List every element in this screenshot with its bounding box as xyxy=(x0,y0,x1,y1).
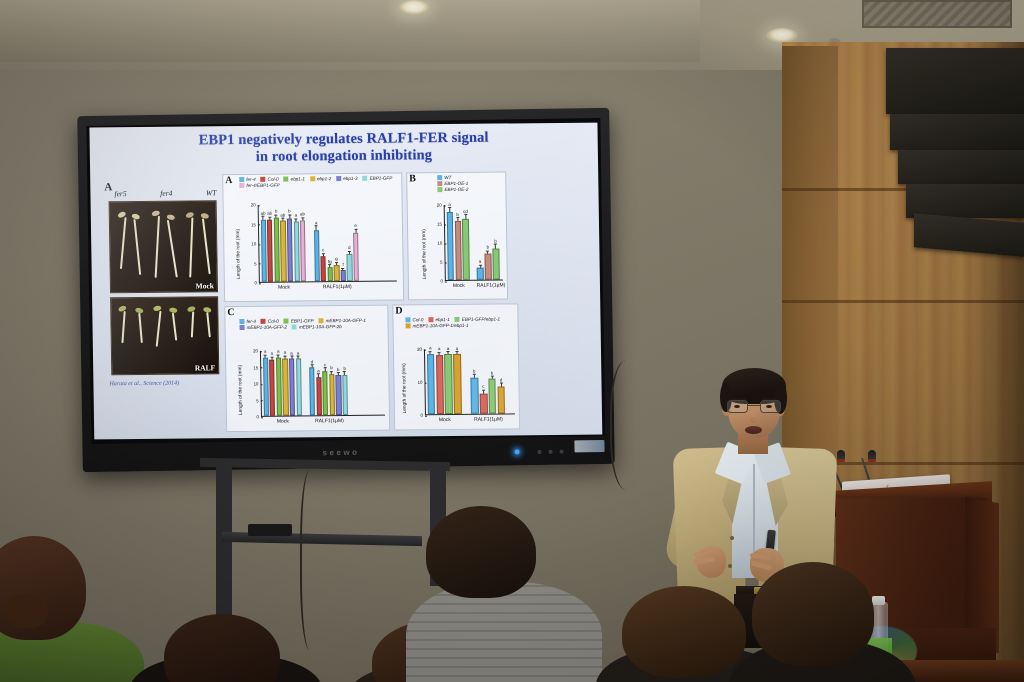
legend-swatch xyxy=(363,176,368,181)
y-axis-tick: 15 xyxy=(437,222,444,227)
significance-label: d xyxy=(500,377,503,382)
bar: a xyxy=(269,350,275,416)
bar: c xyxy=(322,349,328,415)
bar-fill xyxy=(453,354,461,414)
y-axis-tick: 5 xyxy=(256,398,261,403)
audience-hair xyxy=(426,506,536,598)
error-bar xyxy=(448,352,449,354)
error-bar xyxy=(311,366,312,368)
chart-panel-d: D Col-0ebp1-1EBP1-GFP/ebp1-1mEBP1-10A-GF… xyxy=(392,303,520,430)
error-bar-cap xyxy=(342,268,345,269)
legend-item: fer-4/EBP1-GFP xyxy=(239,183,279,188)
error-bar-cap xyxy=(456,217,459,218)
x-axis-category-label: Mock xyxy=(261,284,307,290)
genotype-label: fer5 xyxy=(114,189,126,198)
error-bar-cap xyxy=(438,352,441,353)
legend-item: EBP1-OE-2 xyxy=(437,186,502,192)
error-bar xyxy=(269,217,270,219)
error-bar-cap xyxy=(275,214,278,215)
bar-fill xyxy=(282,358,288,415)
x-axis-category-label: Mock xyxy=(263,418,303,424)
seedling-photo-ralf: RALF xyxy=(110,296,219,375)
error-bar xyxy=(465,215,466,219)
ceiling-downlight-right xyxy=(766,28,798,43)
significance-label: b xyxy=(343,366,346,371)
significance-label: a xyxy=(448,202,451,207)
error-bar-cap xyxy=(447,351,450,352)
error-bar-cap xyxy=(500,383,503,384)
y-axis-tick: 20 xyxy=(437,203,444,208)
chart-plot-c: Length of the root (mm) aaaaaadacbbb 051… xyxy=(260,350,385,417)
photo-panel-genotype-labels: fer5 fer4 WT xyxy=(114,188,216,198)
legend-label: mEBP1-10A-GFP-1/ebp1-1 xyxy=(413,323,469,329)
audience-member-4 xyxy=(418,506,588,682)
error-bar-cap xyxy=(323,368,326,369)
error-bar xyxy=(263,217,264,219)
legend-swatch xyxy=(239,177,244,182)
error-bar-cap xyxy=(330,371,333,372)
error-bar xyxy=(492,377,493,379)
chart-plot-d: Length of the root (mm) aaaabcbd 01020Mo… xyxy=(424,348,515,415)
bar: a xyxy=(446,204,454,280)
bar: a xyxy=(444,348,453,414)
audience-member-1 xyxy=(0,536,132,682)
bar-fill xyxy=(321,256,327,281)
bar-group-container-b: abcdabb xyxy=(446,205,503,281)
bar-group: dacbbb xyxy=(308,350,348,415)
y-axis-tick: 15 xyxy=(253,365,260,370)
y-axis-label: Length of the root (mm) xyxy=(402,363,408,413)
error-bar xyxy=(271,358,272,360)
display-sticker xyxy=(574,440,604,452)
significance-label: ab xyxy=(261,211,266,216)
error-bar xyxy=(291,357,292,359)
significance-label: a xyxy=(284,350,287,355)
error-bar-cap xyxy=(288,214,291,215)
error-bar-cap xyxy=(294,218,297,219)
error-bar-cap xyxy=(310,364,313,365)
significance-label: cd xyxy=(463,209,468,214)
legend-item: ebp1-2 xyxy=(310,176,331,181)
bar-fill xyxy=(342,375,348,415)
legend-label: EBP1-GFP xyxy=(291,318,314,323)
error-bar xyxy=(316,226,317,230)
seedling-photo-mock: Mock xyxy=(109,200,218,293)
bar-fill xyxy=(477,268,484,280)
error-bar-cap xyxy=(337,372,340,373)
bar: a xyxy=(453,348,462,414)
error-bar xyxy=(501,384,502,386)
legend-swatch xyxy=(292,324,297,329)
chart-legend-d: Col-0ebp1-1EBP1-GFP/ebp1-1mEBP1-10A-GFP-… xyxy=(405,316,519,329)
legend-label: ebp1-3 xyxy=(343,176,357,181)
bar: b xyxy=(454,204,462,280)
bar: fg xyxy=(326,203,332,281)
error-bar-cap xyxy=(335,262,338,263)
legend-item: EBP1-GFP/ebp1-1 xyxy=(455,317,500,322)
bar-fill xyxy=(454,221,461,280)
legend-item: mEBP1-10A-GFP-1 xyxy=(319,318,366,323)
bar-group: aaaa xyxy=(426,349,463,414)
significance-label: b xyxy=(473,369,476,374)
bar-group: acfggfde xyxy=(313,204,360,281)
error-bar-cap xyxy=(264,355,267,356)
bar-fill xyxy=(462,219,469,280)
bar: a xyxy=(276,350,282,416)
legend-swatch xyxy=(239,183,244,188)
significance-label: c xyxy=(324,362,326,367)
legend-label: EBP1-OE-1 xyxy=(444,181,468,186)
error-bar xyxy=(344,372,345,375)
bar: b xyxy=(484,204,492,280)
bar: c xyxy=(320,203,326,281)
bar-fill xyxy=(329,374,335,415)
legend-item: ebp1-1 xyxy=(428,317,449,322)
bar: c xyxy=(479,348,488,414)
error-bar-cap xyxy=(343,371,346,372)
audience-hair xyxy=(752,562,874,666)
bar-fill xyxy=(327,267,332,281)
legend-label: fer-4/EBP1-GFP xyxy=(246,183,279,188)
error-bar-cap xyxy=(464,214,467,215)
lecture-hall-photo: EBP1 negatively regulates RALF1-FER sign… xyxy=(0,0,1024,682)
slide-citation: Haruta et al., Science (2014) xyxy=(109,381,179,388)
bar-fill xyxy=(309,367,315,415)
bar: a xyxy=(293,203,299,281)
chart-panel-letter: C xyxy=(227,307,234,318)
y-axis-label: Length of the root (mm) xyxy=(422,229,428,279)
x-axis-category-label: Mock xyxy=(447,283,471,289)
audience-hair-bun xyxy=(4,594,48,628)
bar-fill xyxy=(427,354,435,414)
bar: d xyxy=(346,203,352,281)
bar-group: bcbd xyxy=(469,348,506,413)
bar: a xyxy=(295,349,301,415)
significance-label: a xyxy=(290,350,293,355)
x-axis-category-label: RALF1(1µM) xyxy=(310,418,350,424)
stand-device-box xyxy=(248,524,292,536)
legend-label: mEBP1-10A-GFP-2b xyxy=(299,324,342,329)
legend-label: Col-0 xyxy=(412,317,423,322)
bar: b xyxy=(488,348,497,414)
bar-group-container-c: aaaaaadacbbb xyxy=(262,350,385,416)
legend-item: EBP1-GFP xyxy=(363,176,393,181)
error-bar-cap xyxy=(486,250,489,251)
error-bar xyxy=(276,215,277,217)
error-bar xyxy=(331,372,332,374)
error-bar-cap xyxy=(317,374,320,375)
bar: b xyxy=(342,349,348,415)
presenter-eye-left xyxy=(734,405,740,408)
error-bar xyxy=(295,219,296,221)
chart-legend-c: fer-4Col-0EBP1-GFPmEBP1-10A-GFP-1mEBP1-1… xyxy=(239,318,387,331)
error-bar-cap xyxy=(281,218,284,219)
legend-label: EBP1-GFP/ebp1-1 xyxy=(462,317,500,322)
y-axis-tick: 0 xyxy=(440,279,445,284)
significance-label: a xyxy=(277,349,280,354)
error-bar xyxy=(282,219,283,221)
significance-label: d xyxy=(311,359,314,364)
significance-label: b xyxy=(491,370,494,375)
bar-fill xyxy=(347,254,353,281)
significance-label: f xyxy=(342,262,343,267)
bar-group-container-a: ababbabbaabacfggfde xyxy=(260,204,397,282)
legend-swatch xyxy=(240,325,245,330)
photo-row-label: RALF xyxy=(195,363,216,372)
legend-label: EBP1-GFP xyxy=(370,176,393,181)
legend-item: WT xyxy=(437,174,502,180)
slide-title: EBP1 negatively regulates RALF1-FER sign… xyxy=(90,129,599,168)
error-bar xyxy=(329,266,330,268)
bar-group: ababbabbaab xyxy=(260,204,307,281)
error-bar xyxy=(430,352,431,354)
y-axis-tick: 10 xyxy=(254,381,261,386)
legend-item: fer-4 xyxy=(239,177,255,182)
slide-photo-panel: A fer5 fer4 WT Mock xyxy=(104,184,219,400)
error-bar-cap xyxy=(322,253,325,254)
significance-label: a xyxy=(271,351,274,356)
legend-item: mEBP1-10A-GFP-1/ebp1-1 xyxy=(406,323,469,329)
error-bar xyxy=(457,218,458,221)
display-control-buttons[interactable] xyxy=(538,450,564,454)
chart-panel-a: A fer-4Col-0ebp1-1ebp1-2ebp1-3EBP1-GFPfe… xyxy=(222,172,404,302)
bar: a xyxy=(435,348,444,414)
display-brand-logo: seewo xyxy=(322,448,359,458)
significance-label: ab xyxy=(280,212,285,217)
bar-fill xyxy=(444,354,452,414)
legend-label: mEBP1-10A-GFP-2 xyxy=(247,325,287,330)
legend-swatch xyxy=(437,187,442,192)
bar: b xyxy=(287,204,293,282)
line-array-loudspeaker xyxy=(886,48,1024,114)
genotype-label: WT xyxy=(206,188,217,197)
legend-item: mEBP1-10A-GFP-2 xyxy=(240,325,287,330)
legend-label: ebp1-1 xyxy=(291,176,305,181)
bar: ab xyxy=(260,204,266,282)
bar-fill xyxy=(436,355,444,414)
presenter-mouth xyxy=(745,426,762,434)
error-bar xyxy=(457,352,458,354)
error-bar-cap xyxy=(262,216,265,217)
legend-swatch xyxy=(284,177,289,182)
error-bar-cap xyxy=(277,355,280,356)
chart-panel-letter: A xyxy=(225,175,232,186)
error-bar xyxy=(289,215,290,219)
error-bar-cap xyxy=(354,228,357,229)
error-bar-cap xyxy=(348,251,351,252)
bar: ab xyxy=(280,204,286,282)
significance-label: b xyxy=(337,367,340,372)
bar-fill xyxy=(261,219,267,281)
bar-fill xyxy=(296,359,302,416)
y-axis-tick: 5 xyxy=(440,260,445,265)
chart-panel-letter: B xyxy=(409,173,416,184)
photo-panel-letter: A xyxy=(104,181,112,193)
audience-hair xyxy=(622,586,746,678)
legend-item: Col-0 xyxy=(261,319,279,324)
bar: a xyxy=(313,203,319,281)
line-array-loudspeaker xyxy=(906,184,1024,218)
significance-label: b xyxy=(275,209,278,214)
chart-plot-a: Length of the root (mm) ababbabbaabacfgg… xyxy=(258,204,397,283)
legend-swatch xyxy=(406,323,411,328)
y-axis-tick: 10 xyxy=(418,380,425,385)
error-bar-cap xyxy=(315,225,318,226)
bar: a xyxy=(263,350,269,416)
error-bar-cap xyxy=(482,390,485,391)
bar-fill xyxy=(322,371,328,415)
y-axis-tick: 20 xyxy=(251,202,258,207)
bar-fill xyxy=(289,358,295,415)
legend-swatch xyxy=(319,318,324,323)
bar: a xyxy=(289,350,295,416)
significance-label: b xyxy=(487,245,490,250)
bar: ab xyxy=(300,203,306,281)
y-axis-tick: 0 xyxy=(420,413,425,418)
legend-label: fer-4 xyxy=(246,319,255,324)
bar-fill xyxy=(280,221,286,282)
error-bar xyxy=(338,373,339,375)
bar: g xyxy=(333,203,339,281)
significance-label: g xyxy=(335,256,338,261)
bar: a xyxy=(282,350,288,416)
error-bar xyxy=(278,356,279,358)
bar: b xyxy=(329,349,335,415)
significance-label: a xyxy=(264,349,267,354)
x-axis-category-label: RALF1(1µM) xyxy=(471,416,507,422)
y-axis-label: Length of the root (mm) xyxy=(238,365,244,415)
interactive-display[interactable]: EBP1 negatively regulates RALF1-FER sign… xyxy=(77,108,615,472)
significance-label: a xyxy=(447,346,450,351)
bar: d xyxy=(309,349,315,415)
bar: ab xyxy=(267,204,273,282)
legend-swatch xyxy=(455,317,460,322)
bar-group: abb xyxy=(475,205,500,280)
error-bar-cap xyxy=(494,244,497,245)
x-axis-category-label: RALF1(1µM) xyxy=(477,283,501,289)
bar-fill xyxy=(446,212,454,280)
error-bar xyxy=(439,353,440,355)
significance-label: a xyxy=(479,259,482,264)
y-axis-tick: 10 xyxy=(251,241,258,246)
display-power-led xyxy=(515,449,520,454)
bar-group-container-d: aaaabcbd xyxy=(426,348,515,414)
bar-fill xyxy=(263,358,269,416)
line-array-loudspeaker xyxy=(890,114,1024,150)
bar-fill xyxy=(480,393,488,414)
ceiling-downlight-left xyxy=(398,0,430,15)
legend-item: Col-0 xyxy=(405,317,423,322)
error-bar-cap xyxy=(290,356,293,357)
legend-item: EBP1-OE-1 xyxy=(437,180,502,186)
legend-item: ebp1-1 xyxy=(284,176,305,181)
audience-shoulders xyxy=(406,582,602,682)
presenter-jacket-button xyxy=(730,536,734,540)
significance-label: b xyxy=(494,238,497,243)
bar: cd xyxy=(462,204,470,280)
bar-fill xyxy=(336,375,342,415)
error-bar xyxy=(449,208,450,211)
bar-group: abcd xyxy=(446,205,471,280)
significance-label: fg xyxy=(328,259,332,264)
chart-panel-c: C fer-4Col-0EBP1-GFPmEBP1-10A-GFP-1mEBP1… xyxy=(224,305,390,433)
legend-swatch xyxy=(336,176,341,181)
bar: b xyxy=(492,204,500,280)
legend-swatch xyxy=(261,319,266,324)
error-bar-cap xyxy=(473,374,476,375)
presenter-jacket-button xyxy=(728,564,732,568)
bar: e xyxy=(353,203,359,281)
legend-label: mEBP1-10A-GFP-1 xyxy=(326,318,366,323)
significance-label: e xyxy=(354,223,357,228)
error-bar xyxy=(487,251,488,254)
legend-swatch xyxy=(239,319,244,324)
bar-fill xyxy=(293,221,299,281)
significance-label: a xyxy=(438,346,441,351)
error-bar xyxy=(298,357,299,359)
significance-label: a xyxy=(315,220,318,225)
error-bar xyxy=(483,391,484,394)
genotype-label: fer4 xyxy=(160,189,172,198)
audience-hair xyxy=(164,614,280,682)
error-bar-cap xyxy=(301,217,304,218)
error-bar xyxy=(285,357,286,359)
bar-fill xyxy=(316,378,322,416)
legend-item: fer-4 xyxy=(239,319,255,324)
significance-label: b xyxy=(288,209,291,214)
error-bar xyxy=(349,252,350,254)
photo-row-label: Mock xyxy=(196,281,214,290)
bar-fill xyxy=(341,270,346,281)
bar: b xyxy=(470,348,479,414)
error-bar xyxy=(343,269,344,271)
display-screen[interactable]: EBP1 negatively regulates RALF1-FER sign… xyxy=(89,123,602,440)
presenter-eye-right xyxy=(766,405,772,408)
legend-label: fer-4 xyxy=(246,177,255,182)
error-bar xyxy=(265,356,266,358)
significance-label: c xyxy=(322,247,324,252)
bar-group: aaaaaa xyxy=(262,350,302,415)
chart-legend-a: fer-4Col-0ebp1-1ebp1-2ebp1-3EBP1-GFPfer-… xyxy=(239,175,399,189)
slide-title-line2: in root elongation inhibiting xyxy=(90,146,598,168)
bar-fill xyxy=(488,379,496,414)
microphone-ring-2 xyxy=(868,459,876,462)
significance-label: b xyxy=(330,365,333,370)
y-axis-tick: 20 xyxy=(253,348,260,353)
chart-plot-b: Length of the root (mm) abcdabb 05101520… xyxy=(444,205,503,282)
legend-item: ebp1-3 xyxy=(336,176,357,181)
chart-panel-letter: D xyxy=(395,305,402,316)
legend-label: Col-0 xyxy=(268,177,279,182)
error-bar-cap xyxy=(283,356,286,357)
chart-legend-b: WTEBP1-OE-1EBP1-OE-2 xyxy=(437,174,507,193)
legend-swatch xyxy=(437,175,442,180)
x-axis-category-label: RALF1(1µM) xyxy=(314,284,360,290)
error-bar xyxy=(318,375,319,378)
y-axis-label: Length of the root (mm) xyxy=(236,229,242,279)
significance-label: a xyxy=(297,350,300,355)
bar-fill xyxy=(353,233,359,281)
presenter-nose xyxy=(750,414,757,423)
line-array-loudspeaker xyxy=(898,150,1024,184)
bar-fill xyxy=(314,230,320,282)
significance-label: a xyxy=(317,368,320,373)
legend-swatch xyxy=(310,176,315,181)
audience-member-2 xyxy=(146,614,306,682)
ceiling-air-vent xyxy=(862,0,1012,28)
y-axis-tick: 20 xyxy=(417,347,424,352)
bar: a xyxy=(316,349,322,415)
